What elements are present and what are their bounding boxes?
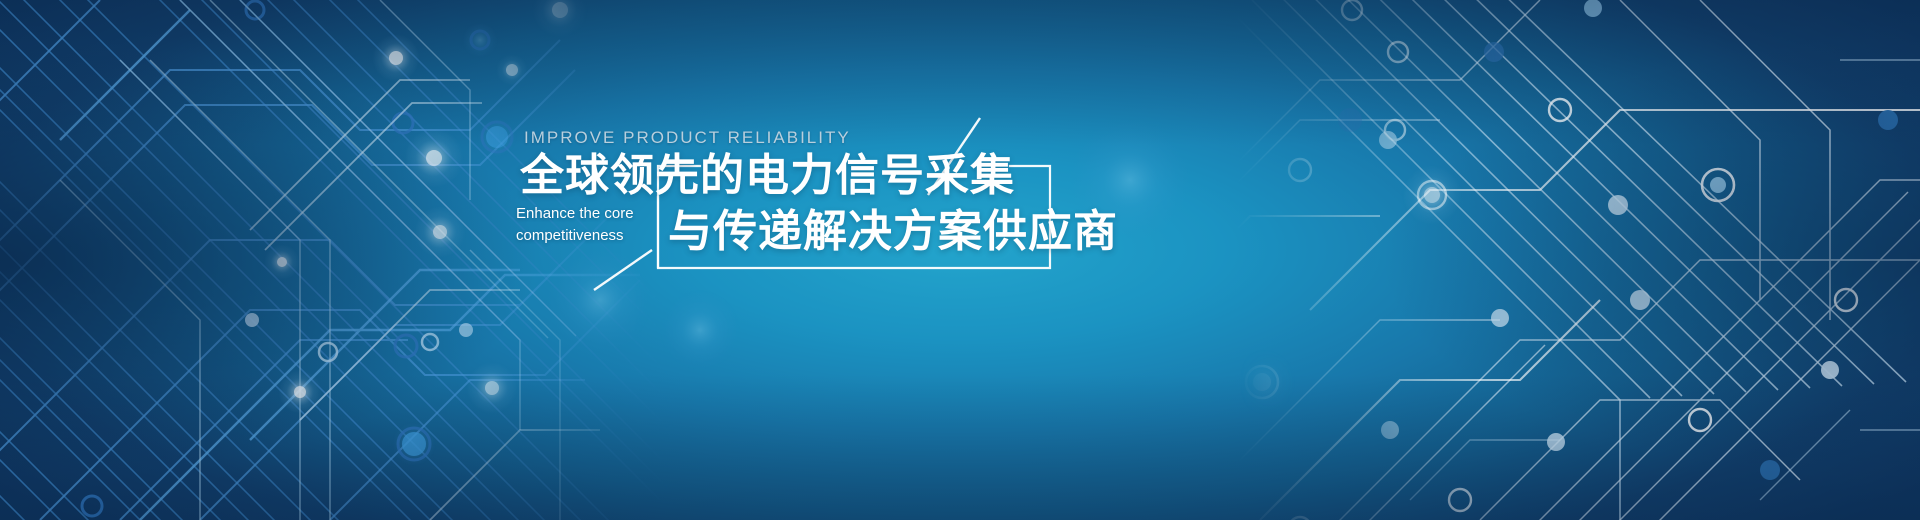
headline-line-1: 全球领先的电力信号采集 xyxy=(520,148,1140,204)
subtitle-block: Enhance the core competitiveness xyxy=(516,203,648,247)
banner-content: IMPROVE PRODUCT RELIABILITY 全球领先的电力信号采集 … xyxy=(0,0,1920,520)
subtitle-line-1: Enhance the core xyxy=(516,203,648,225)
hero-banner: IMPROVE PRODUCT RELIABILITY 全球领先的电力信号采集 … xyxy=(0,0,1920,520)
eyebrow-text: IMPROVE PRODUCT RELIABILITY xyxy=(524,128,851,148)
subtitle-line-2: competitiveness xyxy=(516,225,648,247)
